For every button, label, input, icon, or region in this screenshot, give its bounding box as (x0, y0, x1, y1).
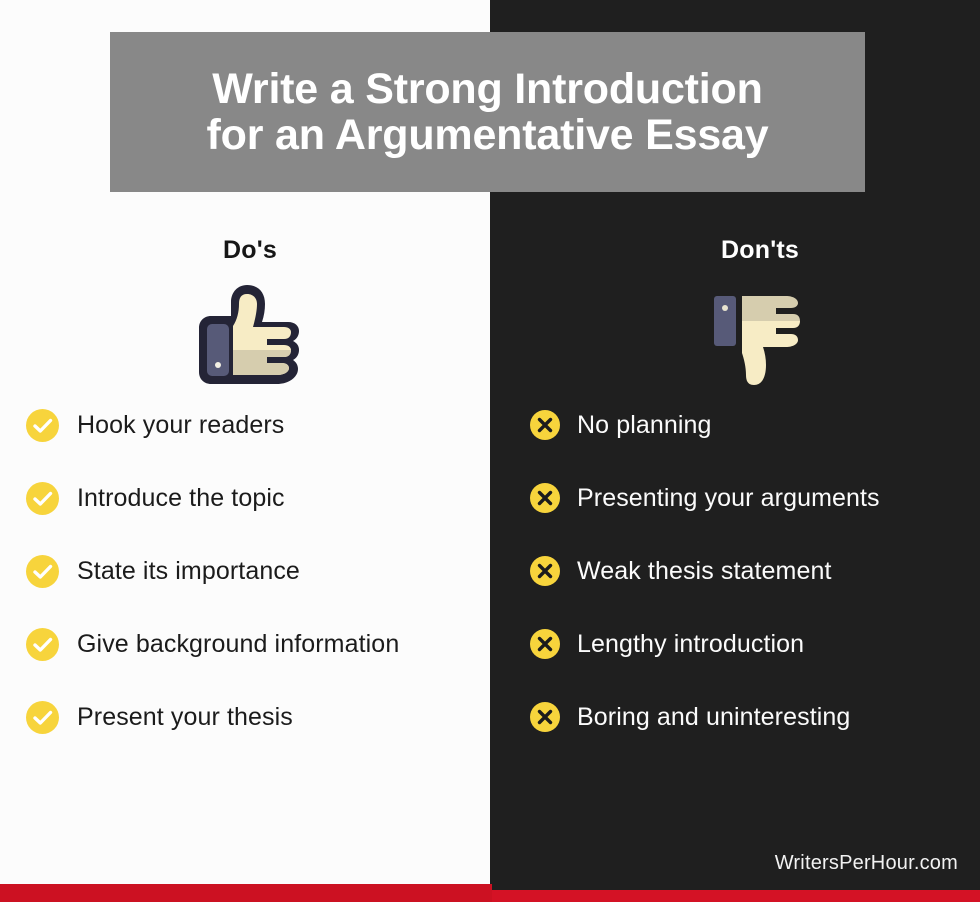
x-circle-icon (530, 629, 560, 659)
check-circle-icon (26, 555, 59, 588)
donts-heading: Don'ts (660, 236, 860, 265)
list-item[interactable]: Presenting your arguments (530, 478, 980, 518)
x-circle-icon (530, 556, 560, 586)
list-item-label: Introduce the topic (77, 483, 285, 513)
list-item-label: Hook your readers (77, 410, 284, 440)
list-item[interactable]: Present your thesis (26, 697, 486, 737)
list-item-label: State its importance (77, 556, 300, 586)
list-item[interactable]: No planning (530, 405, 980, 445)
list-item[interactable]: Lengthy introduction (530, 624, 980, 664)
thumbs-down-icon (700, 288, 830, 398)
x-circle-icon (530, 483, 560, 513)
check-circle-icon (26, 409, 59, 442)
list-item-label: Give background information (77, 629, 399, 659)
list-item[interactable]: Boring and uninteresting (530, 697, 980, 737)
page-title: Write a Strong Introduction for an Argum… (207, 66, 769, 159)
list-item-label: Boring and uninteresting (577, 702, 850, 732)
title-banner: Write a Strong Introduction for an Argum… (110, 32, 865, 192)
list-item-label: Present your thesis (77, 702, 293, 732)
list-item[interactable]: State its importance (26, 551, 486, 591)
donts-list: No planning Presenting your arguments We… (530, 405, 980, 770)
list-item-label: Weak thesis statement (577, 556, 832, 586)
list-item-label: Presenting your arguments (577, 483, 880, 513)
x-circle-icon (530, 410, 560, 440)
list-item-label: Lengthy introduction (577, 629, 804, 659)
list-item[interactable]: Introduce the topic (26, 478, 486, 518)
list-item[interactable]: Give background information (26, 624, 486, 664)
check-circle-icon (26, 482, 59, 515)
dos-heading: Do's (150, 236, 350, 265)
dos-list: Hook your readers Introduce the topic St… (26, 405, 486, 770)
brand-watermark: WritersPerHour.com (775, 852, 958, 875)
infographic-canvas: Write a Strong Introduction for an Argum… (0, 0, 980, 902)
bottom-accent-bar-left (0, 884, 492, 902)
check-circle-icon (26, 701, 59, 734)
x-circle-icon (530, 702, 560, 732)
check-circle-icon (26, 628, 59, 661)
bottom-accent-bar-right (492, 890, 980, 902)
thumbs-up-icon (185, 280, 315, 390)
list-item[interactable]: Weak thesis statement (530, 551, 980, 591)
list-item[interactable]: Hook your readers (26, 405, 486, 445)
list-item-label: No planning (577, 410, 712, 440)
